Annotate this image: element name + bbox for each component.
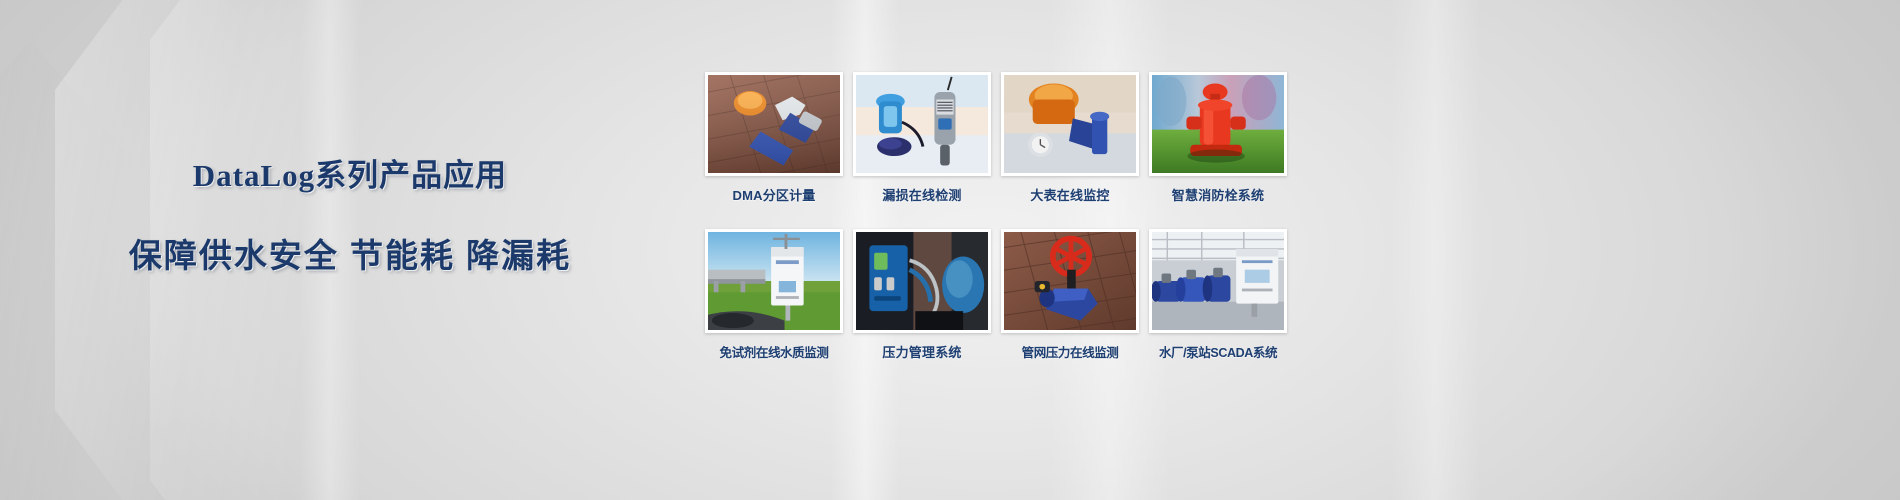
- gallery-item-dma-metering[interactable]: DMA分区计量: [705, 72, 843, 204]
- gallery-caption: 大表在线监控: [1001, 185, 1139, 204]
- gallery-row-bottom: 免试剂在线水质监测: [705, 229, 1285, 361]
- product-application-gallery: DMA分区计量: [705, 72, 1285, 361]
- gallery-item-scada-system[interactable]: 水厂/泵站SCADA系统: [1149, 229, 1287, 361]
- gallery-caption: 智慧消防栓系统: [1149, 185, 1287, 204]
- thumbnail-dma-metering[interactable]: [705, 72, 843, 176]
- gallery-caption: DMA分区计量: [705, 185, 843, 204]
- thumbnail-pressure-management-system[interactable]: [853, 229, 991, 333]
- thumbnail-smart-hydrant-system[interactable]: [1149, 72, 1287, 176]
- thumbnail-large-meter-monitoring[interactable]: [1001, 72, 1139, 176]
- headline-line-1: DataLog系列产品应用: [0, 150, 700, 195]
- gallery-item-pipe-network-pressure-monitoring[interactable]: 管网压力在线监测: [1001, 229, 1139, 361]
- gallery-caption: 压力管理系统: [853, 342, 991, 361]
- gallery-item-smart-hydrant-system[interactable]: 智慧消防栓系统: [1149, 72, 1287, 204]
- gallery-item-large-meter-monitoring[interactable]: 大表在线监控: [1001, 72, 1139, 204]
- gallery-caption: 免试剂在线水质监测: [705, 342, 843, 361]
- thumbnail-scada-system[interactable]: [1149, 229, 1287, 333]
- promo-banner: DataLog系列产品应用 保障供水安全 节能耗 降漏耗: [0, 0, 1900, 500]
- gallery-caption: 漏损在线检测: [853, 185, 991, 204]
- gallery-item-reagent-free-water-quality[interactable]: 免试剂在线水质监测: [705, 229, 843, 361]
- thumbnail-pipe-network-pressure-monitoring[interactable]: [1001, 229, 1139, 333]
- gallery-caption: 管网压力在线监测: [1001, 342, 1139, 361]
- headline-block: DataLog系列产品应用 保障供水安全 节能耗 降漏耗: [0, 150, 700, 277]
- gallery-item-pressure-management-system[interactable]: 压力管理系统: [853, 229, 991, 361]
- gallery-caption: 水厂/泵站SCADA系统: [1149, 342, 1287, 361]
- light-streak-3: [1390, 0, 1480, 500]
- gallery-item-leak-detection[interactable]: 漏损在线检测: [853, 72, 991, 204]
- headline-line-2: 保障供水安全 节能耗 降漏耗: [0, 229, 700, 277]
- thumbnail-reagent-free-water-quality[interactable]: [705, 229, 843, 333]
- gallery-row-top: DMA分区计量: [705, 72, 1285, 204]
- thumbnail-leak-detection[interactable]: [853, 72, 991, 176]
